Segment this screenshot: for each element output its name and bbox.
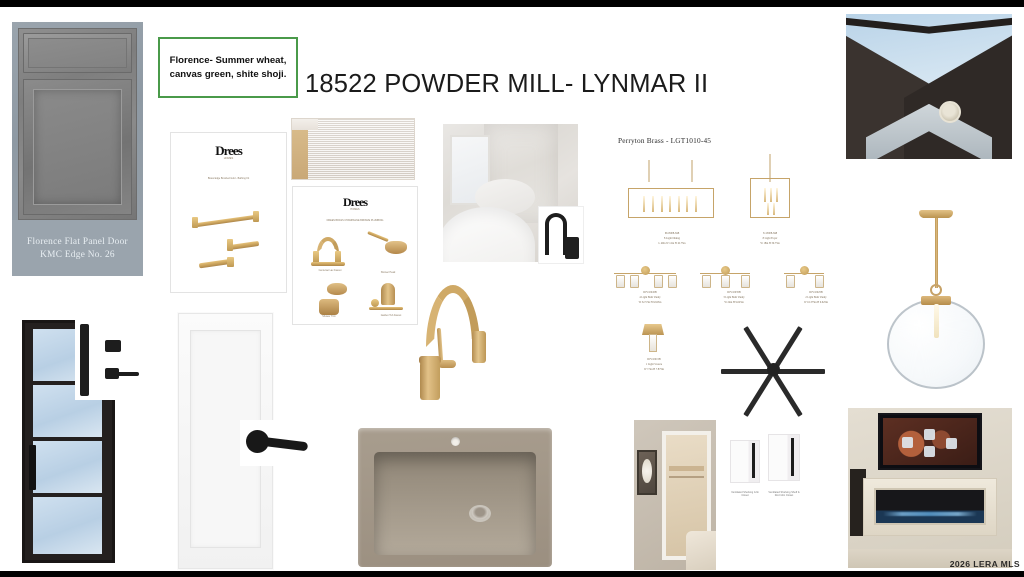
color-scheme-note: Florence- Summer wheat, canvas green, sh… <box>158 37 298 98</box>
shelving-swatch-1-body <box>730 440 760 483</box>
foyer-lantern-sku: 5113008-848 <box>738 232 802 236</box>
shower-head-icon <box>365 233 409 259</box>
towel-ring-post-icon <box>227 239 233 251</box>
towel-bar-post-left-icon <box>192 217 198 228</box>
sink-faucet-hole <box>451 437 460 446</box>
shelving-swatch-2-body <box>768 434 800 481</box>
fireplace-photo <box>848 408 1012 568</box>
shelving-swatch-2: Ventilated Shelving Shelf & Rod 12in Clo… <box>768 434 800 498</box>
dining-lantern-dims: L 40in W 12in H 16.75in <box>640 242 704 246</box>
dining-lantern-name: 8 Light Dining <box>640 237 704 241</box>
sconce-1light-name: 1 Light Sconce <box>622 363 686 367</box>
deadbolt-icon <box>105 340 121 352</box>
vanity-2light-sku: DJV10025B <box>784 291 848 295</box>
vanity-3light-name: 3 Light Bath Vanity <box>702 296 766 300</box>
ceiling-fan-hub <box>767 363 780 376</box>
plumbing-sheet-caption: DREES BRASS CHAMPAGNE BRONZE PLUMBING <box>293 219 417 222</box>
sconce-1light-dims: W 7.5in H 7.875in <box>622 368 686 372</box>
closet-wall-art <box>637 450 657 495</box>
shower-hinge-icon <box>565 237 579 259</box>
tv-app-icon-4 <box>946 438 957 449</box>
cabinet-caption: Florence Flat Panel Door KMC Edge No. 26 <box>12 220 143 276</box>
tub-faucet-label: Garden Tub Faucet <box>363 314 419 317</box>
drees-logo-sub-towel: HOMES <box>171 157 286 161</box>
lav-faucet-label: Centerset Lav Faucet <box>301 269 359 272</box>
closet-photo <box>634 420 716 570</box>
foyer-lantern-icon <box>750 154 790 218</box>
dining-lantern-icon <box>628 160 714 218</box>
lav-faucet-icon <box>309 235 349 265</box>
cabinet-drawer-front <box>23 33 132 73</box>
vanity-2light-name: 2 Light Bath Vanity <box>784 296 848 300</box>
interior-door-lever <box>240 420 312 466</box>
faucet-pulldown-head <box>472 331 486 363</box>
shower-trim-label: Shower Trim <box>299 315 359 318</box>
shelving-swatch-1-caption: Ventilated Shelving 12in Closet <box>730 491 760 498</box>
vanity-4light-name: 4 Light Bath Vanity <box>618 296 682 300</box>
drees-logo-sub-plumbing: HOMES <box>293 208 417 211</box>
wall-mounted-tv <box>878 413 983 471</box>
pendant-bulb <box>934 304 939 338</box>
pendant-canopy <box>919 210 953 218</box>
towel-bar-spec-sheet: Drees HOMES Brass Edge Brushed Gold - Ba… <box>170 132 287 293</box>
towel-bar-post-right-icon <box>253 211 259 222</box>
vanity-3light-sku: DJV10035B <box>702 291 766 295</box>
entry-door-lite-3 <box>33 441 102 493</box>
sconce-1light-sku: DJV10015B <box>622 358 686 362</box>
globe-pendant-light <box>858 196 1014 376</box>
lever-arm <box>263 437 308 451</box>
cabinet-flat-panel <box>23 79 132 215</box>
shower-pull-handle-icon <box>545 213 567 255</box>
design-selections-board: 18522 POWDER MILL- LYNMAR II Florence- S… <box>0 0 1024 577</box>
fireplace-flame <box>883 512 977 516</box>
cabinet-caption-line2: KMC Edge No. 26 <box>40 250 115 260</box>
closet-bedding <box>686 531 716 570</box>
vanity-4light-icon <box>614 266 676 286</box>
pendant-rod <box>935 218 938 288</box>
fireplace-firebox <box>874 488 985 525</box>
vanity-2light-dims: W 16.375in H 9.625in <box>784 301 848 305</box>
letterbox-bottom <box>0 571 1024 577</box>
lighting-header: Perryton Brass - LGT1010-45 <box>618 136 711 145</box>
cabinet-caption-line1: Florence Flat Panel Door <box>27 237 128 247</box>
foyer-lantern-dims: W 18in H 30.75in <box>738 242 802 246</box>
closet-rod <box>669 476 704 478</box>
towel-bar-icon <box>195 215 257 228</box>
shelving-swatch-2-caption: Ventilated Shelving Shelf & Rod 12in Clo… <box>768 491 800 498</box>
sink-drain <box>469 505 491 522</box>
plumbing-spec-sheet: Drees HOMES DREES BRASS CHAMPAGNE BRONZE… <box>292 186 418 325</box>
tv-screen-content <box>883 418 978 466</box>
towel-ring-icon <box>229 241 259 250</box>
eave-recessed-light <box>939 101 961 123</box>
color-scheme-note-text: Florence- Summer wheat, canvas green, sh… <box>160 54 296 82</box>
kitchen-faucet <box>412 285 496 400</box>
shelving-swatch-2-edge <box>791 438 794 476</box>
paper-holder-post-icon <box>227 257 234 267</box>
page-title: 18522 POWDER MILL- LYNMAR II <box>305 70 775 99</box>
letterbox-top <box>0 0 1024 7</box>
vanity-4light-dims: W 32.57in H 9.625in <box>618 301 682 305</box>
ceiling-fan-icon <box>718 344 828 394</box>
towel-sheet-caption: Brass Edge Brushed Gold - Bathing Kit <box>171 177 286 180</box>
faucet-base <box>420 356 440 400</box>
vanity-3light-icon <box>700 266 750 286</box>
sconce-1light-icon <box>642 324 664 354</box>
tv-app-icon-1 <box>902 437 913 448</box>
entry-door-hardware <box>75 320 140 400</box>
closet-shelf <box>669 466 704 471</box>
vanity-3light-dims: W 24in H 9.625in <box>702 301 766 305</box>
vanity-2light-icon <box>784 266 824 286</box>
foyer-lantern-name: 8 Light Foyer <box>738 237 802 241</box>
exterior-eave-photo <box>846 14 1012 159</box>
fireplace-surround <box>863 478 997 536</box>
shower-head-label: Shower Head <box>359 271 417 274</box>
shower-door-hardware <box>538 206 584 264</box>
shelving-swatch-1-edge <box>752 443 755 477</box>
dining-lantern-sku: 6613008-848 <box>640 232 704 236</box>
shower-trim-icon <box>313 283 357 313</box>
lever-arm-icon <box>117 372 139 376</box>
tv-app-icon-3 <box>924 446 935 457</box>
handleset-plate-icon <box>80 324 89 396</box>
cabinet-door-face <box>18 28 137 220</box>
entry-door-pull <box>29 445 36 490</box>
shelving-swatch-1: Ventilated Shelving 12in Closet <box>730 440 760 498</box>
sink-basin <box>374 452 536 555</box>
flooring-swatch <box>291 118 415 180</box>
watermark: 2026 LERA MLS <box>950 559 1020 569</box>
entry-door-lite-4 <box>33 497 102 554</box>
pendant-ring <box>930 284 942 296</box>
tv-app-icon-2 <box>924 429 935 440</box>
vanity-4light-sku: DJV10045B <box>618 291 682 295</box>
cabinet-door-sample: Florence Flat Panel Door KMC Edge No. 26 <box>12 22 143 276</box>
tub-faucet-icon <box>369 283 411 311</box>
kitchen-sink <box>358 428 552 567</box>
